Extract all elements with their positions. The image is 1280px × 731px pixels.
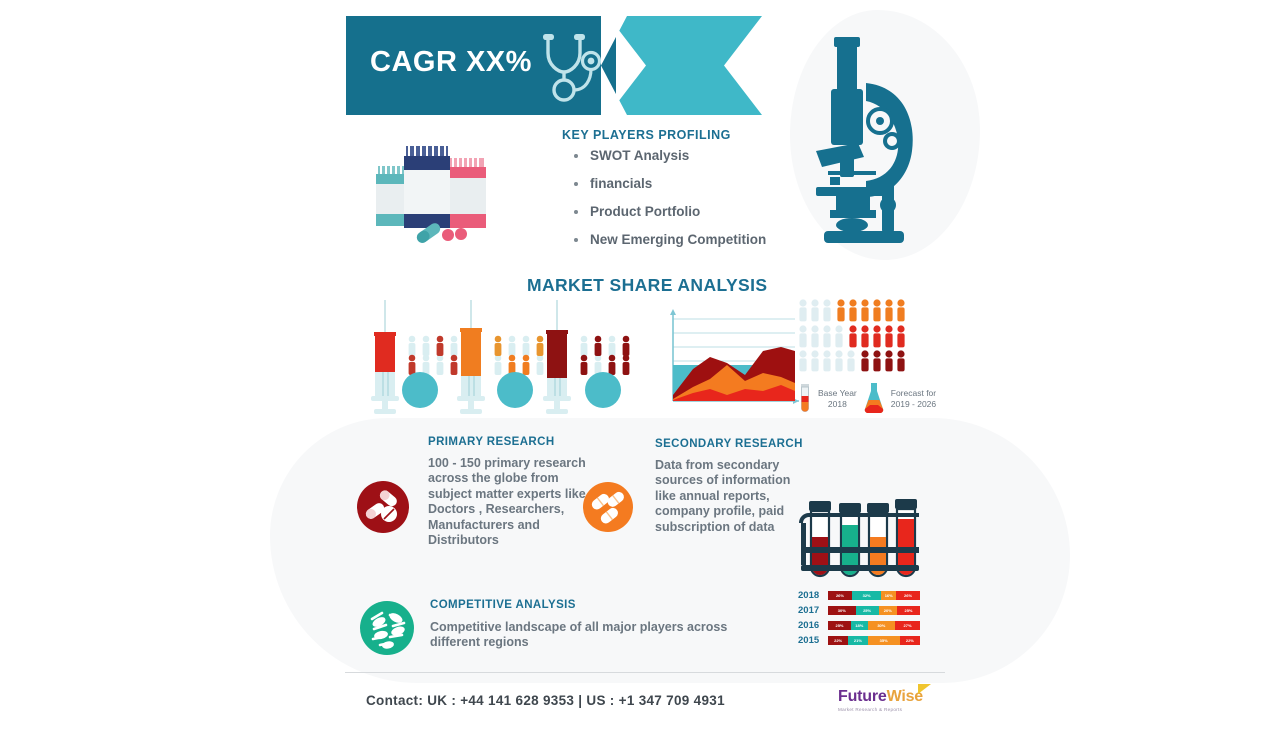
list-item: financials [566, 176, 766, 191]
people-pictogram-icon [581, 336, 630, 375]
infographic-canvas: CAGR XX% [0, 0, 1280, 731]
bar-segment: 32% [852, 591, 881, 600]
bar-segment: 20% [879, 606, 897, 615]
logo-text-future: Future [838, 688, 887, 705]
bar-segment: 30% [868, 621, 896, 630]
bar-track: 30% 25% 20% 25% [828, 606, 920, 615]
syringe-market-chart [360, 300, 640, 415]
bar-segment: 22% [900, 636, 920, 645]
flask-icon [863, 383, 885, 415]
bar-segment: 26% [828, 591, 852, 600]
bar-segment: 21% [848, 636, 867, 645]
competitive-analysis-body: Competitive landscape of all major playe… [430, 620, 750, 651]
pill-bottles-icon [372, 140, 490, 252]
bar-segment: 25% [828, 621, 851, 630]
bar-track: 26% 32% 16% 26% [828, 591, 920, 600]
key-players-list: SWOT Analysis financials Product Portfol… [566, 148, 766, 260]
list-item: Product Portfolio [566, 204, 766, 219]
people-grid-chart [797, 297, 915, 373]
area-chart [655, 303, 805, 413]
bar-segment: 18% [851, 621, 868, 630]
table-row: 2016 25% 18% 30% 27% [798, 619, 920, 632]
ribbon-light-panel [608, 16, 762, 115]
bar-segment: 22% [828, 636, 848, 645]
secondary-research-title: SECONDARY RESEARCH [655, 438, 805, 450]
cagr-ribbon: CAGR XX% [346, 16, 762, 115]
table-row: 2017 30% 25% 20% 25% [798, 604, 920, 617]
table-row: 2018 26% 32% 16% 26% [798, 589, 920, 602]
pills-circle-orange-icon [583, 482, 633, 532]
bar-track: 25% 18% 30% 27% [828, 621, 920, 630]
bar-segment: 26% [896, 591, 920, 600]
cagr-label: CAGR XX% [370, 46, 532, 79]
market-share-title: MARKET SHARE ANALYSIS [527, 275, 767, 296]
secondary-research-block: SECONDARY RESEARCH Data from secondary s… [655, 438, 805, 535]
footer-divider [345, 672, 945, 673]
competitive-analysis-block: COMPETITIVE ANALYSIS Competitive landsca… [430, 599, 750, 651]
syringe-icon [543, 300, 571, 414]
year-label: 2016 [798, 620, 824, 631]
contact-info: Contact: UK : +44 141 628 9353 | US : +1… [366, 693, 725, 708]
table-row: 2015 22% 21% 35% 22% [798, 634, 920, 647]
secondary-research-body: Data from secondary sources of informati… [655, 458, 805, 535]
bar-segment: 35% [868, 636, 900, 645]
bar-segment: 30% [828, 606, 856, 615]
year-label: 2015 [798, 635, 824, 646]
bar-segment: 25% [856, 606, 879, 615]
legend-forecast: Forecast for 2019 - 2026 [891, 388, 936, 410]
syringe-icon [457, 300, 485, 414]
bar-segment: 27% [895, 621, 920, 630]
syringe-icon [371, 300, 399, 414]
test-tube-rack-icon [797, 493, 923, 581]
primary-research-body: 100 - 150 primary research across the gl… [428, 456, 588, 548]
primary-research-block: PRIMARY RESEARCH 100 - 150 primary resea… [428, 436, 588, 548]
logo-swoosh-icon [918, 684, 931, 694]
bar-segment: 25% [897, 606, 920, 615]
test-tube-icon [798, 384, 812, 414]
stethoscope-icon [538, 33, 606, 105]
year-label: 2017 [798, 605, 824, 616]
bar-track: 22% 21% 35% 22% [828, 636, 920, 645]
pills-circle-green-icon [360, 601, 414, 655]
pills-circle-dark-red-icon [357, 481, 409, 533]
competitive-analysis-title: COMPETITIVE ANALYSIS [430, 599, 750, 611]
chart-legend: Base Year 2018 Forecast for 2019 - 2026 [798, 383, 936, 415]
futurewise-logo: FutureWise Market Research & Reports [838, 688, 923, 712]
primary-research-title: PRIMARY RESEARCH [428, 436, 588, 448]
logo-tagline: Market Research & Reports [838, 707, 923, 712]
bar-segment: 16% [881, 591, 896, 600]
list-item: New Emerging Competition [566, 232, 766, 247]
list-item: SWOT Analysis [566, 148, 766, 163]
year-label: 2018 [798, 590, 824, 601]
microscope-icon [808, 25, 920, 251]
yearly-share-chart: 2018 26% 32% 16% 26% 2017 30% 25% 20% 25… [798, 589, 920, 649]
legend-base-year: Base Year 2018 [818, 388, 857, 410]
key-players-title: KEY PLAYERS PROFILING [562, 128, 731, 142]
